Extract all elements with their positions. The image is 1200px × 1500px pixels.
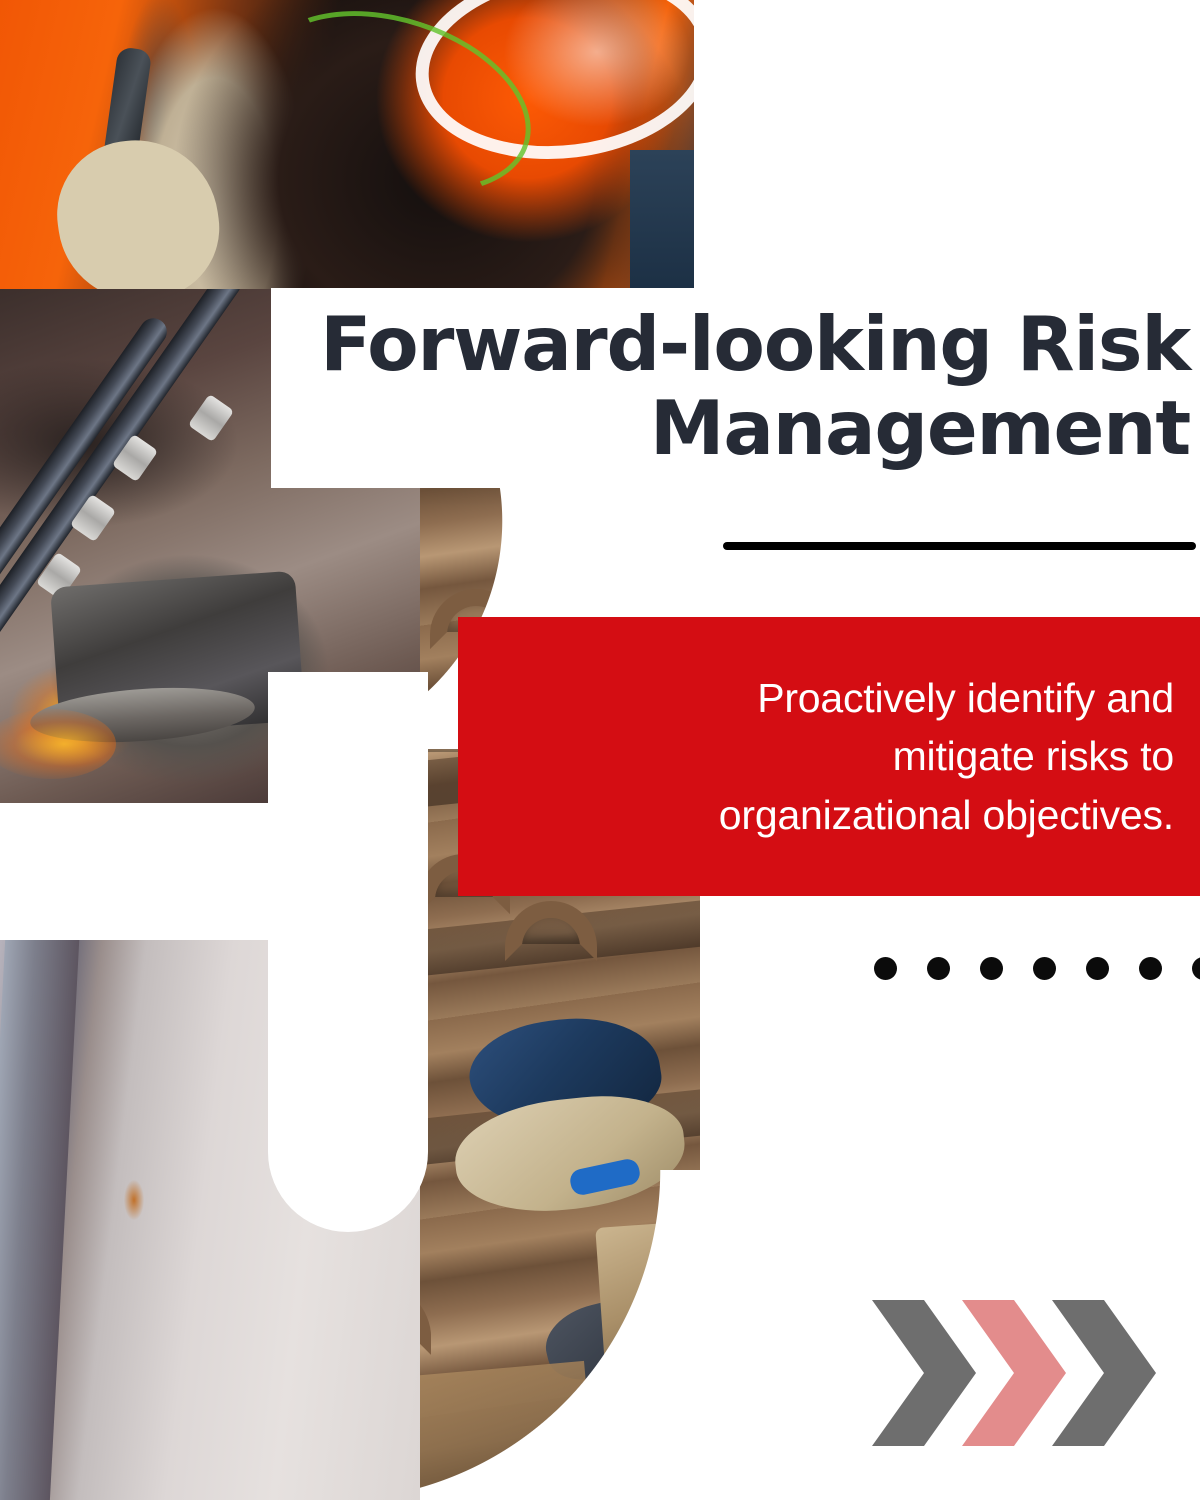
title-panel: Forward-looking Risk Management: [271, 288, 1200, 488]
dot-icon: [980, 957, 1003, 980]
u-stem-gap: [0, 803, 270, 941]
dot-icon: [1033, 957, 1056, 980]
callout-text: Proactively identify and mitigate risks …: [719, 669, 1174, 844]
callout-line-1: Proactively identify and: [757, 675, 1174, 721]
title-line-2: Management: [650, 384, 1190, 472]
rust-spot: [124, 1180, 144, 1220]
u-counter-top-square: [268, 672, 428, 762]
dot-divider: [874, 957, 1200, 980]
dot-icon: [1192, 957, 1200, 980]
callout-line-3: organizational objectives.: [719, 792, 1174, 838]
dot-icon: [1086, 957, 1109, 980]
dot-icon: [874, 957, 897, 980]
callout-banner: Proactively identify and mitigate risks …: [458, 617, 1200, 896]
poster-canvas: Forward-looking Risk Management Proactiv…: [0, 0, 1200, 1500]
page-title: Forward-looking Risk Management: [289, 302, 1190, 470]
title-underline-rule: [723, 542, 1196, 550]
photo-worker-face-shield: [0, 0, 694, 289]
denim-sleeve: [630, 150, 694, 289]
title-line-1: Forward-looking Risk: [320, 300, 1190, 388]
callout-line-2: mitigate risks to: [893, 733, 1174, 779]
chevron-right-icon: [1052, 1300, 1160, 1446]
dot-icon: [927, 957, 950, 980]
dot-icon: [1139, 957, 1162, 980]
chevron-group: [872, 1300, 1162, 1446]
